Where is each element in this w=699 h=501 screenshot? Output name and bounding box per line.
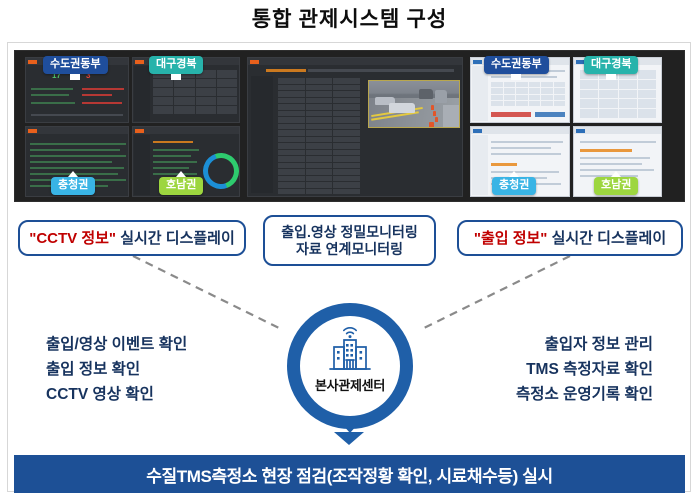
list-item: 출입자 정보 관리 [516, 332, 653, 357]
screen-row [31, 94, 69, 96]
region-tag-honam: 호남권 [159, 177, 203, 195]
screen-row [580, 149, 632, 152]
screen-topbar [471, 127, 569, 134]
region-tag-label: 수도권동부 [491, 58, 542, 70]
list-item: CCTV 영상 확인 [46, 382, 187, 407]
region-tag-label: 대구경북 [156, 58, 196, 70]
monitor-group-right: 수도권동부 대구경북 충청권 호남권 [470, 57, 676, 197]
bottom-banner-text: 수질TMS측정소 현장 점검(조작정황 확인, 시료채수등) 실시 [146, 462, 552, 487]
screen-cell-grid [153, 70, 237, 114]
region-tag-label: 호남권 [601, 179, 631, 191]
traffic-cone-icon [431, 105, 434, 110]
screen-row [535, 112, 565, 117]
screen-row [153, 149, 199, 151]
screen-row [30, 143, 126, 145]
screen-sidebar [472, 135, 488, 195]
screen-center-main[interactable] [247, 57, 463, 197]
callout-access-info[interactable]: "출입 정보" 실시간 디스플레이 [457, 220, 683, 256]
screen-row [491, 76, 557, 78]
bottom-banner: 수질TMS측정소 현장 점검(조작정황 확인, 시료채수등) 실시 [14, 455, 685, 493]
traffic-cone-icon [435, 117, 438, 122]
screen-sidebar [472, 66, 488, 121]
region-tag-label: 호남권 [166, 179, 196, 191]
list-item: 출입/영상 이벤트 확인 [46, 332, 187, 357]
screen-donut-chart [197, 147, 240, 195]
screen-row [266, 69, 306, 72]
screen-row [580, 141, 656, 143]
callout-highlight: "CCTV 정보" [29, 230, 116, 247]
callout-highlight: "출입 정보" [474, 230, 548, 247]
right-capability-list: 출입자 정보 관리 TMS 측정자료 확인 측정소 운영기록 확인 [516, 332, 653, 407]
screen-table [278, 78, 360, 194]
page-title: 통합 관제시스템 구성 [0, 3, 699, 33]
region-tag-chungcheong: 충청권 [492, 177, 536, 195]
screen-row [31, 114, 123, 116]
screen-topbar [133, 127, 239, 134]
screen-topbar [26, 127, 128, 134]
screen-row [30, 155, 126, 157]
screen-sidebar [251, 76, 273, 193]
screen-row [30, 149, 120, 151]
region-tag-honam: 호남권 [594, 177, 638, 195]
list-item: 출입 정보 확인 [46, 357, 187, 382]
screen-row [82, 94, 112, 96]
callout-text: 실시간 디스플레이 [547, 230, 666, 247]
region-tag-daegu-gyeongbuk: 대구경북 [149, 56, 203, 74]
screen-chart [491, 82, 565, 106]
list-item: 측정소 운영기록 확인 [516, 382, 653, 407]
region-tag-label: 대구경북 [591, 58, 631, 70]
control-center-hub[interactable]: 본사관제센터 [276, 303, 424, 429]
region-tag-label: 충청권 [58, 179, 88, 191]
list-item: TMS 측정자료 확인 [516, 357, 653, 382]
region-tag-label: 충청권 [499, 179, 529, 191]
screen-row [491, 141, 563, 143]
region-tag-chungcheong: 충청권 [51, 177, 95, 195]
screen-row [82, 102, 122, 104]
screen-row [82, 88, 124, 90]
cctv-video-feed[interactable] [368, 80, 460, 128]
callout-precision-monitoring[interactable]: 출입.영상 정밀모니터링 자료 연계모니터링 [263, 215, 436, 266]
traffic-cone-icon [429, 122, 434, 128]
screen-row [491, 163, 517, 166]
region-tag-sudogwon-dongbu: 수도권동부 [43, 56, 108, 74]
callout-cctv-info[interactable]: "CCTV 정보" 실시간 디스플레이 [18, 220, 246, 256]
screen-row [153, 141, 193, 143]
building-wifi-icon [322, 327, 378, 371]
screen-row [153, 173, 197, 175]
screen-row [153, 167, 189, 169]
screen-topbar [248, 58, 462, 65]
monitor-group-center [247, 57, 463, 197]
car-icon [435, 90, 447, 103]
hub-label: 본사관제센터 [276, 375, 424, 394]
region-tag-daegu-gyeongbuk: 대구경북 [584, 56, 638, 74]
screen-row [31, 88, 73, 90]
screen-row [580, 163, 642, 165]
car-icon [419, 89, 433, 99]
screen-topbar [574, 127, 661, 134]
region-tag-label: 수도권동부 [50, 58, 101, 70]
screen-row [580, 157, 650, 159]
screen-row [308, 69, 454, 72]
callout-text-line2: 자료 연계모니터링 [296, 241, 403, 258]
callout-text-line1: 출입.영상 정밀모니터링 [281, 224, 418, 241]
monitor-group-left: 17 3 [25, 57, 240, 197]
screen-row [491, 147, 551, 149]
screen-row [31, 102, 75, 104]
screen-row [153, 161, 197, 163]
screen-sidebar [134, 66, 150, 121]
traffic-cone-icon [433, 111, 436, 116]
screen-row [30, 161, 112, 163]
left-capability-list: 출입/영상 이벤트 확인 출입 정보 확인 CCTV 영상 확인 [46, 332, 187, 407]
screen-sidebar [134, 135, 150, 195]
screen-row [491, 171, 559, 173]
car-icon [389, 103, 415, 113]
screen-table [580, 70, 656, 118]
screen-row [30, 167, 124, 169]
kerb [443, 105, 460, 128]
down-arrow-icon [334, 432, 364, 445]
callout-text: 실시간 디스플레이 [116, 230, 235, 247]
screen-row [153, 155, 191, 157]
screen-row [491, 153, 561, 155]
region-tag-sudogwon-dongbu: 수도권동부 [484, 56, 549, 74]
monitor-wall: 17 3 [14, 50, 685, 202]
screen-alert-bar [491, 112, 531, 117]
